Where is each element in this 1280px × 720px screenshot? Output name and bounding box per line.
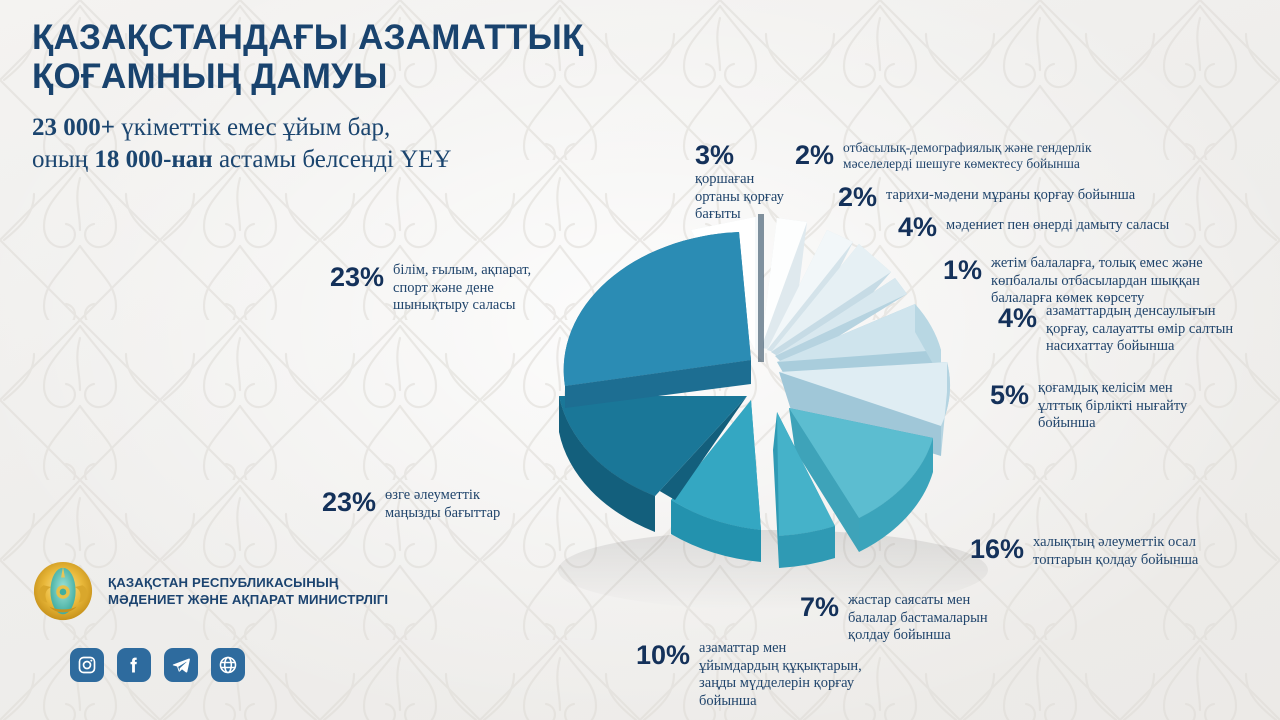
callout-pct: 2% bbox=[838, 182, 877, 211]
callout-pct: 2% bbox=[795, 140, 834, 169]
callout-10-azamattar: 10% азаматтар мен ұйымдардың құқықтарын,… bbox=[636, 640, 862, 711]
callout-desc: халықтың әлеуметтік осал топтарын қолдау… bbox=[1033, 534, 1198, 569]
page-subtitle: 23 000+ үкіметтік емес ұйым бар, оның 18… bbox=[32, 112, 672, 176]
callout-pct: 16% bbox=[970, 534, 1024, 563]
callout-pct: 4% bbox=[998, 303, 1037, 332]
callout-pct: 5% bbox=[990, 380, 1029, 409]
kazakhstan-emblem-icon bbox=[32, 560, 94, 622]
callout-pct: 10% bbox=[636, 640, 690, 669]
callout-pct: 23% bbox=[322, 487, 376, 516]
callout-23-ozge: 23% өзге әлеуметтік маңызды бағыттар bbox=[322, 487, 500, 522]
callout-pct: 4% bbox=[898, 212, 937, 241]
social-links bbox=[70, 648, 452, 682]
callout-desc: жастар саясаты мен балалар бастамаларын … bbox=[848, 592, 988, 645]
ministry-name: ҚАЗАҚСТАН РЕСПУБЛИКАСЫНЫҢ МӘДЕНИЕТ ЖӘНЕ … bbox=[108, 574, 388, 609]
pie-centre-seam bbox=[758, 214, 764, 362]
website-icon[interactable] bbox=[211, 648, 245, 682]
ministry-block: ҚАЗАҚСТАН РЕСПУБЛИКАСЫНЫҢ МӘДЕНИЕТ ЖӘНЕ … bbox=[32, 560, 452, 622]
page-title-line2: ҚОҒАМНЫҢ ДАМУЫ bbox=[32, 57, 388, 96]
subtitle-text-1: үкіметтік емес ұйым бар, bbox=[115, 114, 390, 141]
facebook-icon[interactable] bbox=[117, 648, 151, 682]
callout-desc: мәдениет пен өнерді дамыту саласы bbox=[946, 212, 1169, 235]
callout-2-tarihi: 2% тарихи-мәдени мұраны қорғау бойынша bbox=[838, 182, 1135, 211]
callout-5-kelisim: 5% қоғамдық келісім мен ұлттық бірлікті … bbox=[990, 380, 1187, 433]
page-title: ҚАЗАҚСТАНДАҒЫ АЗАМАТТЫҚ ҚОҒАМНЫҢ ДАМУЫ bbox=[32, 18, 672, 96]
callout-3-korshagan: 3% қоршаған ортаны қорғау бағыты bbox=[695, 140, 784, 224]
callout-desc: жетім балаларға, толық емес және көпбала… bbox=[991, 255, 1203, 308]
callout-desc: өзге әлеуметтік маңызды бағыттар bbox=[385, 487, 500, 522]
callout-desc: тарихи-мәдени мұраны қорғау бойынша bbox=[886, 182, 1135, 205]
callout-16-halyq: 16% халықтың әлеуметтік осал топтарын қо… bbox=[970, 534, 1198, 569]
subtitle-figure-total: 23 000+ bbox=[32, 114, 115, 141]
header: ҚАЗАҚСТАНДАҒЫ АЗАМАТТЫҚ ҚОҒАМНЫҢ ДАМУЫ 2… bbox=[32, 18, 672, 176]
callout-23-bilim: 23% білім, ғылым, ақпарат, спорт және де… bbox=[330, 262, 531, 315]
callout-pct: 1% bbox=[943, 255, 982, 284]
callout-desc: қоғамдық келісім мен ұлттық бірлікті нығ… bbox=[1038, 380, 1187, 433]
page-title-line1: ҚАЗАҚСТАНДАҒЫ АЗАМАТТЫҚ bbox=[32, 18, 584, 57]
subtitle-figure-active: 18 000-нан bbox=[94, 146, 212, 173]
callout-4-madeniet: 4% мәдениет пен өнерді дамыту саласы bbox=[898, 212, 1169, 241]
instagram-icon[interactable] bbox=[70, 648, 104, 682]
callout-4-densaulyq: 4% азаматтардың денсаулығын қорғау, сала… bbox=[998, 303, 1233, 356]
ministry-line-1: ҚАЗАҚСТАН РЕСПУБЛИКАСЫНЫҢ bbox=[108, 574, 388, 591]
subtitle-text-2b: астамы белсенді ҮЕҰ bbox=[213, 146, 452, 173]
callout-desc: білім, ғылым, ақпарат, спорт және дене ш… bbox=[393, 262, 531, 315]
callout-pct: 7% bbox=[800, 592, 839, 621]
callout-desc: азаматтардың денсаулығын қорғау, салауат… bbox=[1046, 303, 1233, 356]
callout-7-zhastar: 7% жастар саясаты мен балалар бастамалар… bbox=[800, 592, 988, 645]
infographic-root: ҚАЗАҚСТАНДАҒЫ АЗАМАТТЫҚ ҚОҒАМНЫҢ ДАМУЫ 2… bbox=[0, 0, 1280, 720]
callout-pct: 23% bbox=[330, 262, 384, 291]
callout-desc: азаматтар мен ұйымдардың құқықтарын, заң… bbox=[699, 640, 862, 711]
callout-desc: отбасылық-демографиялық және гендерлік м… bbox=[843, 140, 1092, 173]
callout-2-otbasylyq: 2% отбасылық-демографиялық және гендерлі… bbox=[795, 140, 1092, 173]
ministry-line-2: МӘДЕНИЕТ ЖӘНЕ АҚПАРАТ МИНИСТРЛІГІ bbox=[108, 591, 388, 608]
callout-1-zhetim: 1% жетім балаларға, толық емес және көпб… bbox=[943, 255, 1203, 308]
callout-desc: қоршаған ортаны қорғау бағыты bbox=[695, 171, 784, 224]
slice-23-bilim[interactable] bbox=[564, 232, 751, 408]
footer: ҚАЗАҚСТАН РЕСПУБЛИКАСЫНЫҢ МӘДЕНИЕТ ЖӘНЕ … bbox=[32, 560, 452, 682]
telegram-icon[interactable] bbox=[164, 648, 198, 682]
subtitle-text-2a: оның bbox=[32, 146, 94, 173]
callout-pct: 3% bbox=[695, 140, 734, 169]
